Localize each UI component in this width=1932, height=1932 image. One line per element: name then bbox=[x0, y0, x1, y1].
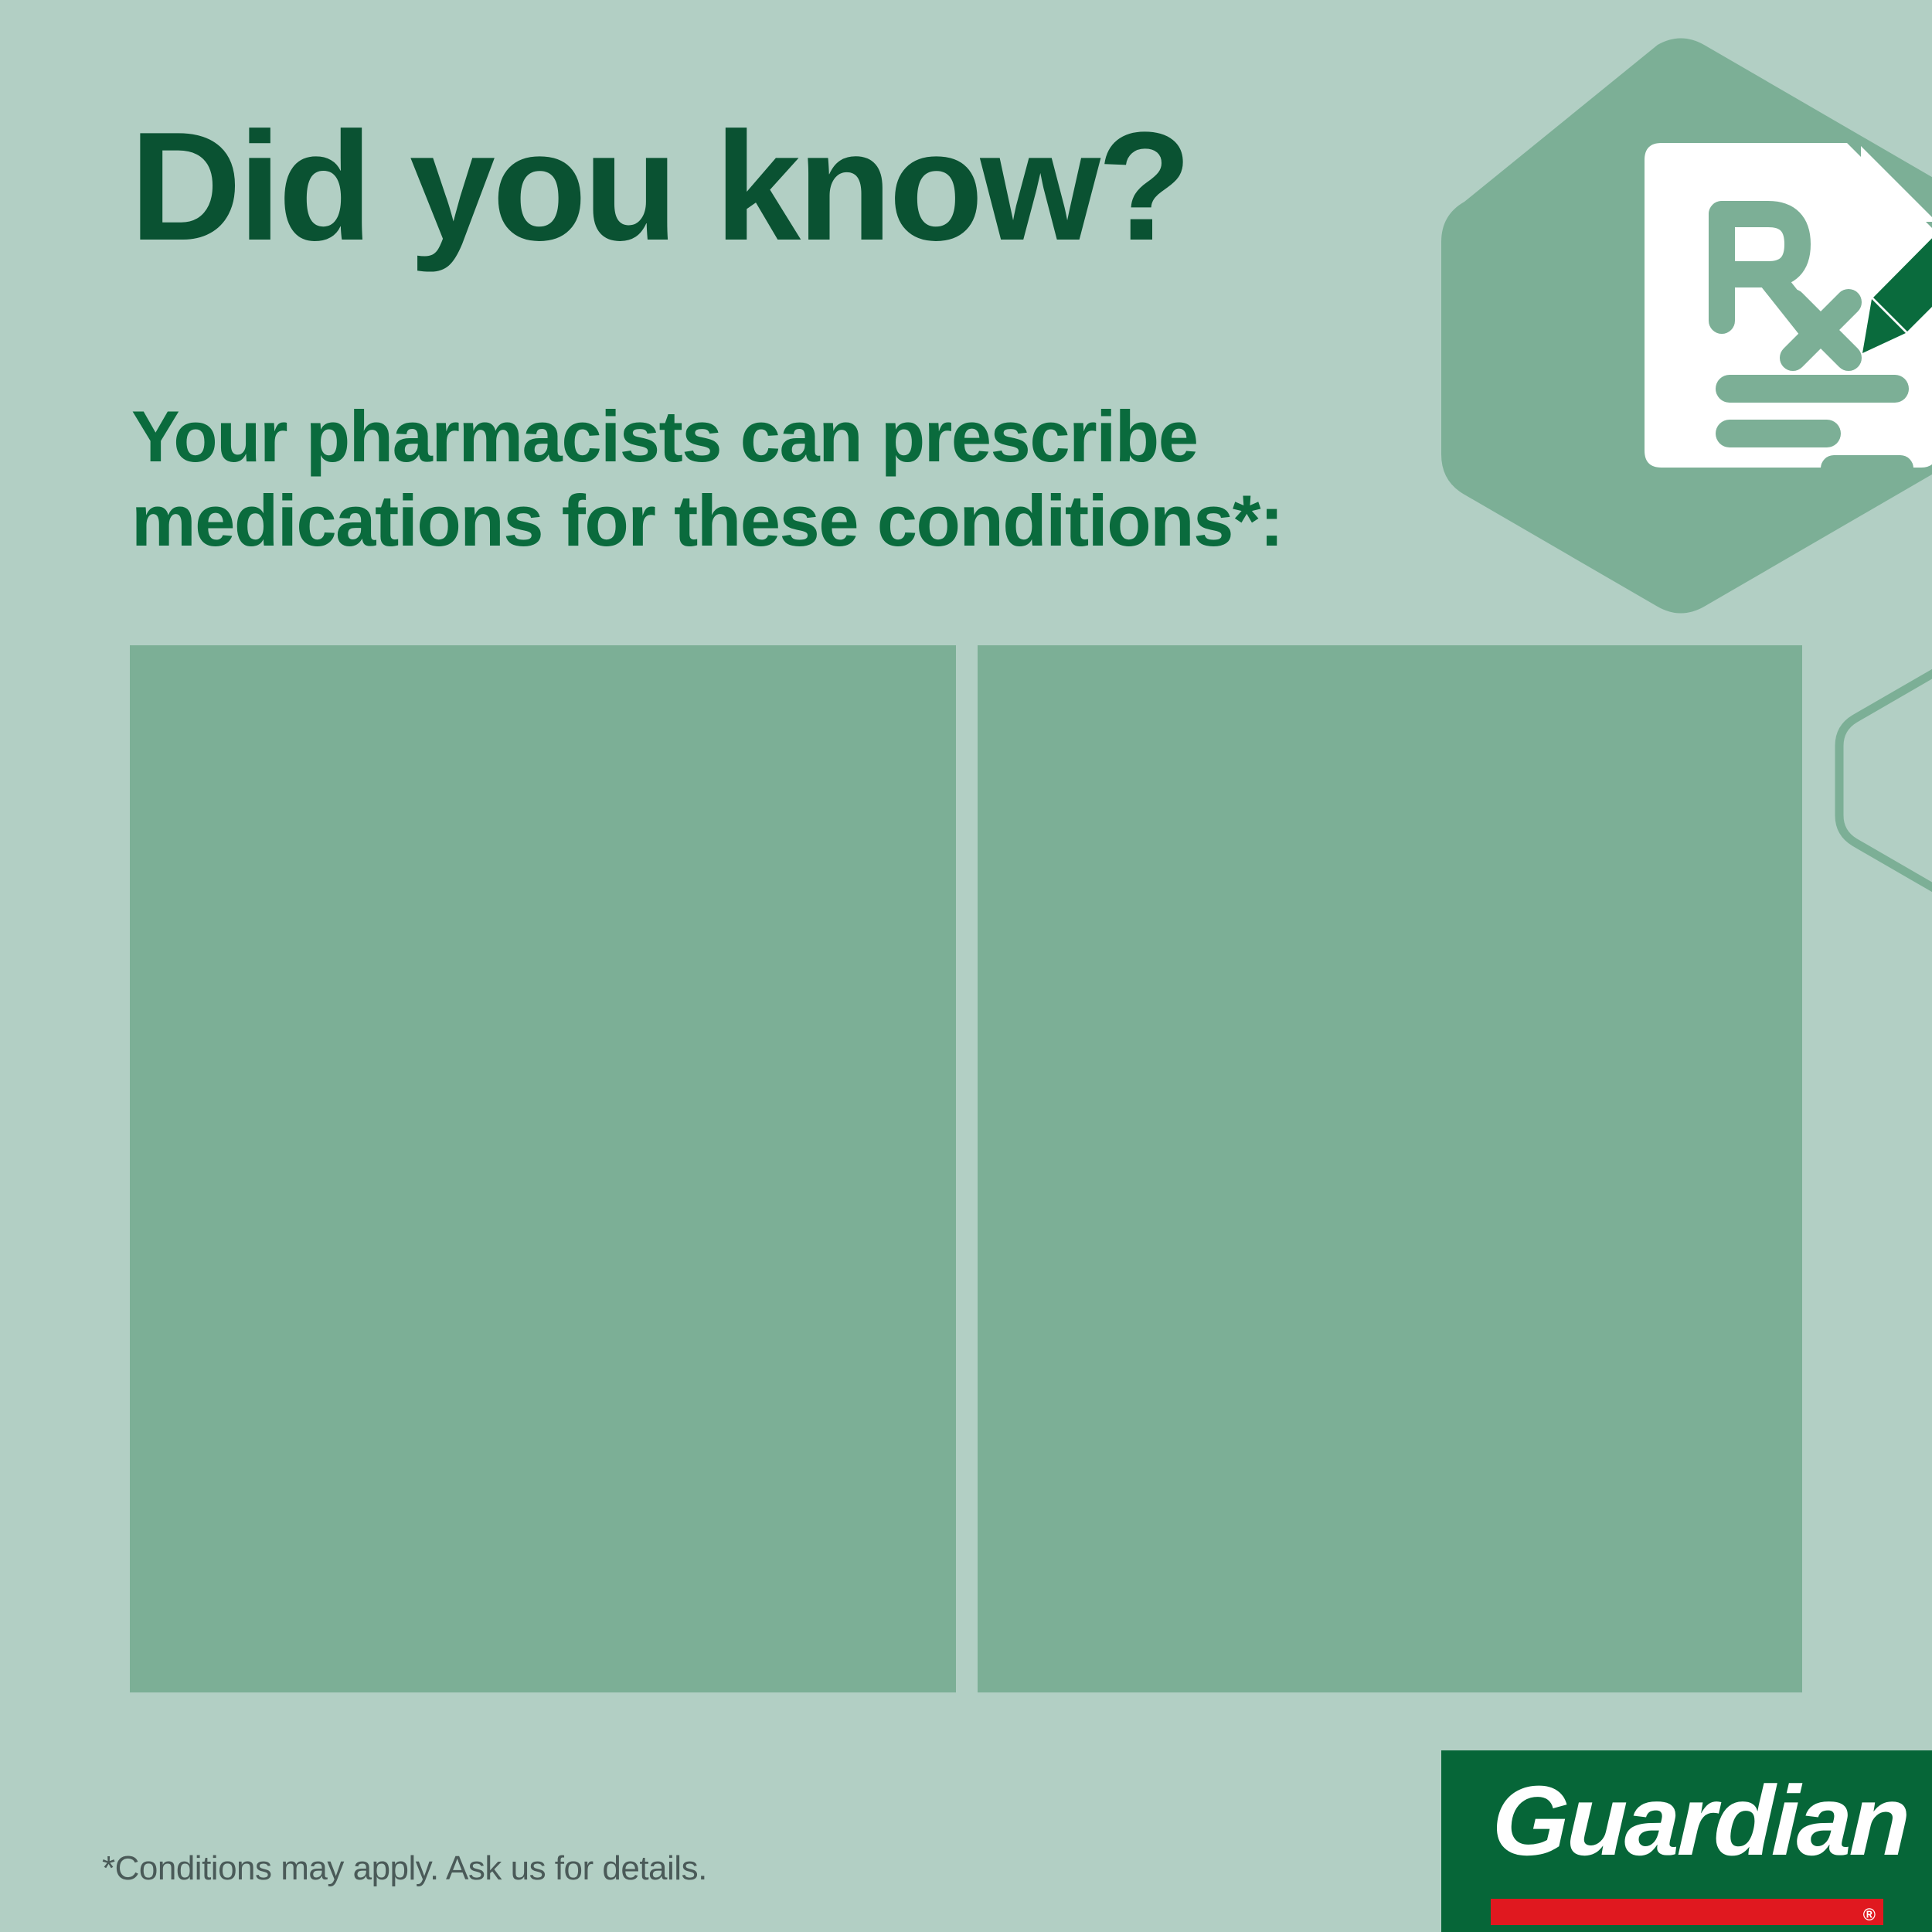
disclaimer-footnote: *Conditions may apply. Ask us for detail… bbox=[102, 1849, 707, 1889]
hexagon-outline-shape bbox=[1839, 571, 1932, 990]
guardian-wordmark: Guardian bbox=[1491, 1772, 1910, 1871]
conditions-column-right[interactable] bbox=[978, 645, 1802, 1692]
page-title: Did you know? bbox=[130, 110, 1189, 264]
conditions-column-right-body bbox=[978, 645, 1802, 1692]
document-signature-line bbox=[1821, 455, 1913, 468]
document-folded-corner bbox=[1861, 146, 1932, 222]
document-line-2 bbox=[1716, 420, 1841, 447]
page-subtitle: Your pharmacists can prescribe medicatio… bbox=[131, 394, 1283, 563]
registered-trademark-icon: ® bbox=[1863, 1902, 1876, 1928]
document-line-1 bbox=[1716, 375, 1909, 403]
brand-red-rule: ® bbox=[1491, 1899, 1883, 1925]
poster-canvas: Did you know? Your pharmacists can presc… bbox=[0, 0, 1932, 1932]
conditions-column-left[interactable] bbox=[130, 645, 956, 1692]
prescription-document-icon bbox=[1638, 143, 1932, 468]
conditions-panel-group bbox=[130, 645, 1802, 1692]
conditions-column-left-body bbox=[130, 645, 956, 1692]
brand-logo-block: Guardian ® bbox=[1441, 1750, 1932, 1932]
